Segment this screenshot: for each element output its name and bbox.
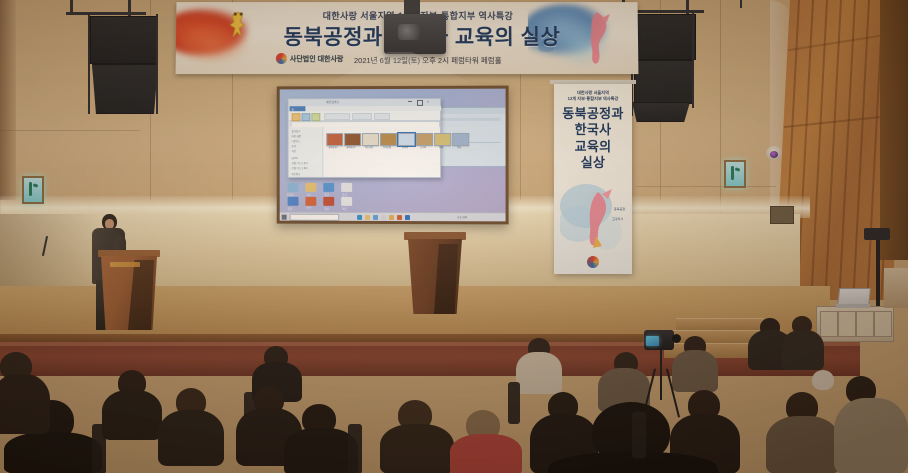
audience-shoulders: [766, 416, 840, 473]
studio-light: [864, 228, 890, 240]
lecture-hall-photo: 대한사랑 서울지역 12개 지부·통합지부 역사특강 동북공정과 한국사 교육의…: [0, 0, 908, 473]
tiger-peninsula-icon: [580, 10, 615, 68]
audience-shoulders: [834, 398, 908, 473]
av-cabinet: [816, 306, 894, 342]
vertical-banner-title-2: 한국사: [554, 122, 632, 138]
korean-peninsula-map-graphic: 동북공정 고구려사: [560, 180, 626, 256]
dragon-emblem-icon: [222, 8, 254, 42]
audience-head: [812, 370, 834, 390]
audience-shoulders: [450, 434, 522, 473]
wall-edge-left: [0, 0, 16, 200]
foreground-shoulders: [4, 432, 102, 473]
line-array-speaker-right: [628, 10, 704, 120]
vertical-banner-subtitle: 대한사랑 서울지역 12개 지부·통합지부 역사특강: [554, 90, 632, 102]
vertical-banner: 대한사랑 서울지역 12개 지부·통합지부 역사특강 동북공정과 한국사 교육의…: [554, 84, 632, 274]
camera-flip-screen: [646, 336, 659, 346]
vertical-banner-title-3: 교육의: [554, 139, 632, 155]
side-wall-panel: [884, 268, 908, 308]
vertical-banner-title: 동북공정과 한국사 교육의 실상: [554, 106, 632, 171]
light-stand: [876, 236, 880, 306]
audience-shoulders: [284, 428, 358, 473]
svg-text:고구려사: 고구려사: [612, 216, 623, 221]
projected-desktop: × 파일 탐색기 홈 즐겨찾기 바탕 화면 다: [280, 89, 506, 222]
stage-wall-shadow: [0, 214, 100, 292]
banner-org-name: 사단법인 대한사랑: [290, 54, 344, 64]
audience-shoulders: [516, 352, 562, 394]
daehansarang-logo-icon: [276, 53, 287, 64]
audience-shoulders: [782, 330, 824, 370]
vertical-banner-title-4: 실상: [554, 155, 632, 171]
audience-shoulders: [0, 374, 50, 434]
wall-edge-right: [880, 0, 908, 260]
podium: [98, 250, 160, 330]
camera-lens-icon: [672, 334, 681, 343]
audience-shoulders: [158, 410, 224, 466]
exit-sign-right: [724, 160, 746, 188]
chinese-flag-watercolor-graphic: [176, 2, 269, 74]
line-array-speaker-left: [84, 12, 164, 120]
podium-logo: [110, 262, 140, 267]
daehansarang-logo-icon: [587, 256, 599, 268]
center-lectern: [404, 232, 466, 314]
vertical-banner-title-1: 동북공정과: [554, 106, 632, 122]
audience-shoulders: [672, 350, 718, 392]
svg-text:동북공정: 동북공정: [614, 206, 625, 211]
exit-sign-left: [22, 176, 44, 204]
projector-lens-icon: [398, 24, 420, 40]
projection-screen: × 파일 탐색기 홈 즐겨찾기 바탕 화면 다: [277, 86, 509, 225]
dome-camera-lens: [770, 151, 778, 158]
audience-shoulders: [380, 424, 454, 473]
wall-panel-box: [770, 206, 794, 224]
vertical-banner-subtitle-line2: 12개 지부·통합지부 역사특강: [554, 96, 632, 102]
audience-shoulders: [102, 390, 162, 440]
